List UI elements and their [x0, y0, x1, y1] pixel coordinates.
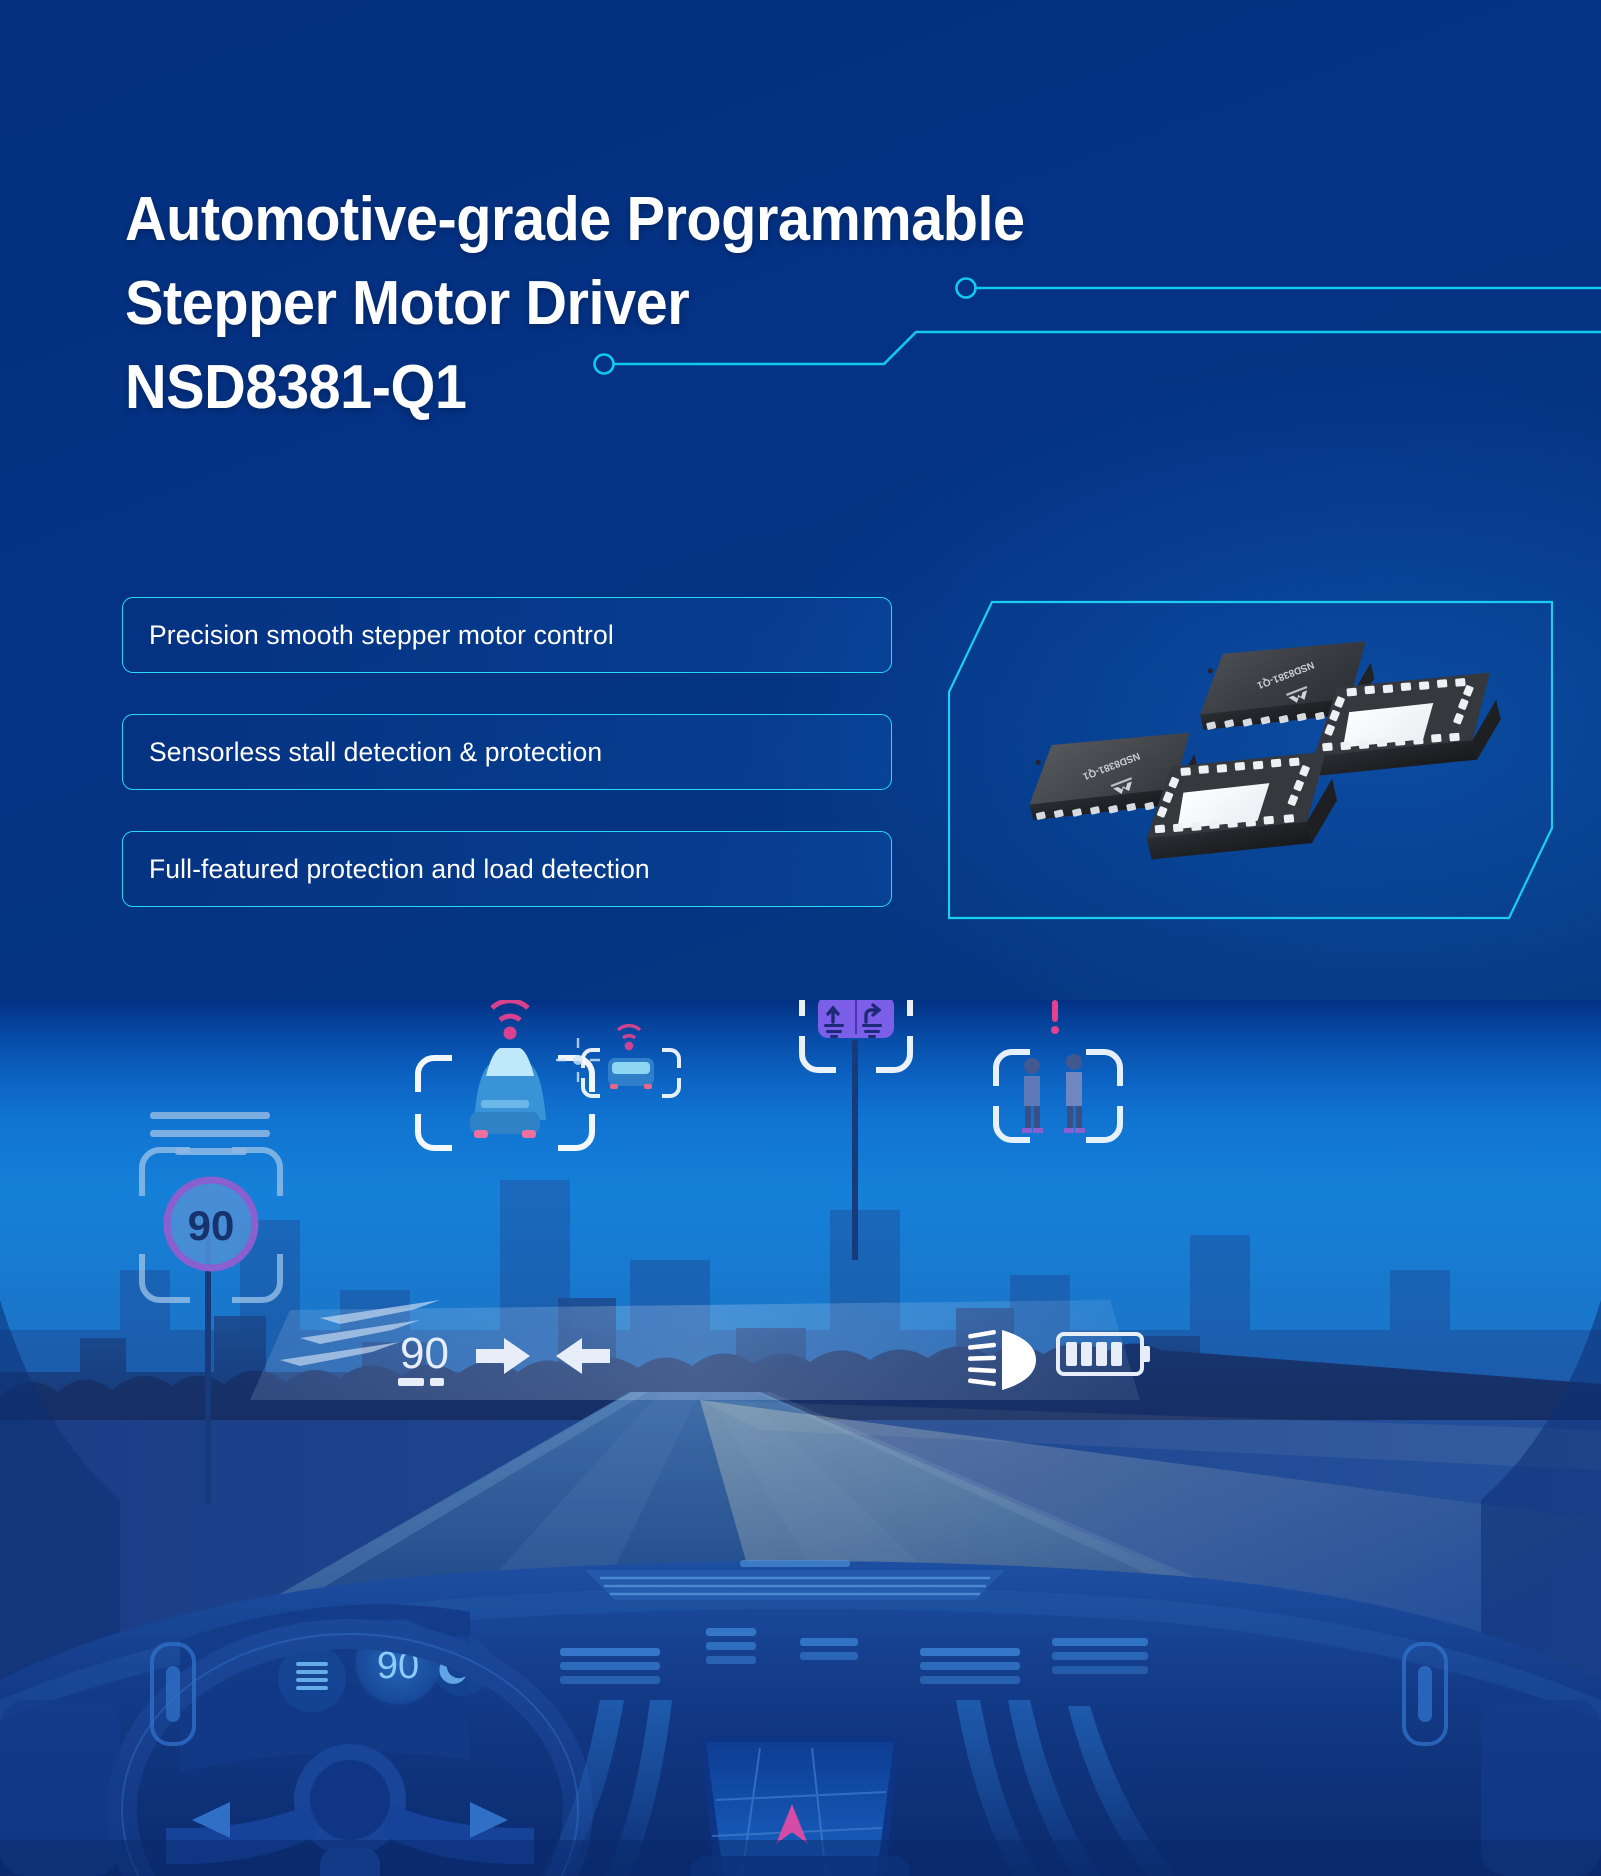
- page-title: Automotive-grade Programmable Stepper Mo…: [125, 178, 1260, 430]
- hud-speed-readout: 90: [398, 1329, 449, 1386]
- chip-illustration: NSD8381-Q1: [968, 604, 1538, 916]
- title-line-3: NSD8381-Q1: [125, 346, 1260, 430]
- feature-label: Full-featured protection and load detect…: [123, 854, 650, 885]
- feature-item-2: Sensorless stall detection & protection: [122, 714, 892, 790]
- product-image-panel: NSD8381-Q1: [948, 600, 1553, 920]
- alert-icon: [1051, 1000, 1059, 1034]
- feature-item-3: Full-featured protection and load detect…: [122, 831, 892, 907]
- feature-list: Precision smooth stepper motor control S…: [122, 597, 892, 948]
- adas-scene-illustration: 90: [0, 1000, 1601, 1876]
- hud-speed-value: 90: [400, 1329, 449, 1378]
- product-poster: Automotive-grade Programmable Stepper Mo…: [0, 0, 1601, 1876]
- feature-item-1: Precision smooth stepper motor control: [122, 597, 892, 673]
- title-line-1: Automotive-grade Programmable: [125, 178, 1260, 262]
- feature-label: Precision smooth stepper motor control: [123, 620, 614, 651]
- speed-limit-value: 90: [188, 1202, 235, 1249]
- feature-label: Sensorless stall detection & protection: [123, 737, 602, 768]
- title-line-2: Stepper Motor Driver: [125, 262, 1260, 346]
- hud-overlay: 90: [250, 1300, 1150, 1400]
